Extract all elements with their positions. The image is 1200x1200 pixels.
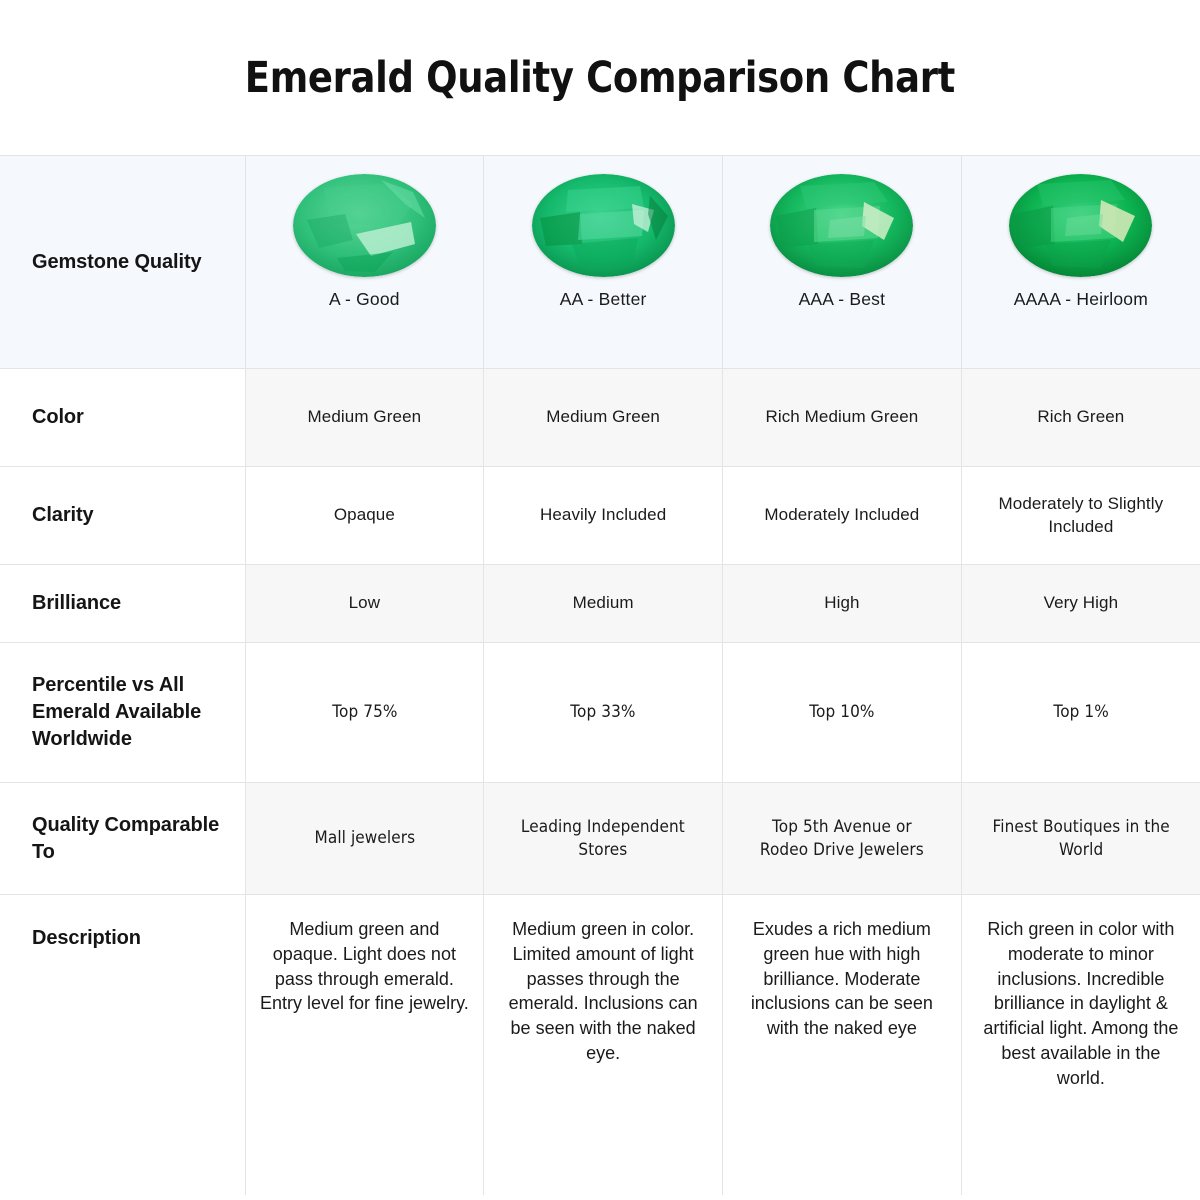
cell-text: Rich Green: [976, 406, 1186, 428]
cell-comparable-a: Mall jewelers: [245, 783, 484, 895]
cell-comparable-aaaa: Finest Boutiques in the World: [961, 783, 1200, 895]
cell-text: Medium green and opaque. Light does not …: [260, 917, 470, 1016]
cell-brilliance-aaaa: Very High: [961, 565, 1200, 643]
cell-text: Opaque: [260, 504, 470, 526]
gem-cell-aaa: AAA - Best: [723, 156, 962, 369]
cell-text: Top 33%: [509, 701, 698, 723]
cell-text: Medium: [498, 592, 708, 614]
cell-brilliance-aaa: High: [723, 565, 962, 643]
table-row-quality-comparable-to: Quality Comparable To Mall jewelers Lead…: [0, 783, 1200, 895]
cell-text: Moderately Included: [737, 504, 947, 526]
table-row-clarity: Clarity Opaque Heavily Included Moderate…: [0, 467, 1200, 565]
cell-brilliance-a: Low: [245, 565, 484, 643]
row-label-quality-comparable-to: Quality Comparable To: [0, 783, 245, 895]
cell-text: Rich Medium Green: [737, 406, 947, 428]
cell-color-aaa: Rich Medium Green: [723, 369, 962, 467]
cell-description-aaa: Exudes a rich medium green hue with high…: [723, 895, 962, 1195]
page-title: Emerald Quality Comparison Chart: [245, 53, 955, 103]
cell-clarity-a: Opaque: [245, 467, 484, 565]
cell-text: Moderately to Slightly Included: [976, 493, 1186, 537]
cell-text: Medium Green: [260, 406, 470, 428]
cell-text: High: [737, 592, 947, 614]
cell-clarity-aaa: Moderately Included: [723, 467, 962, 565]
gem-cell-aaaa: AAAA - Heirloom: [961, 156, 1200, 369]
cell-text: Very High: [976, 592, 1186, 614]
cell-text: Mall jewelers: [270, 827, 459, 849]
gem-label-aaa: AAA - Best: [799, 289, 886, 310]
cell-text: Top 10%: [747, 701, 936, 723]
table-row-description: Description Medium green and opaque. Lig…: [0, 895, 1200, 1195]
cell-clarity-aaaa: Moderately to Slightly Included: [961, 467, 1200, 565]
cell-color-aaaa: Rich Green: [961, 369, 1200, 467]
emerald-gem-aaa-icon: [770, 174, 913, 277]
cell-percentile-aaa: Top 10%: [723, 643, 962, 783]
row-label-percentile: Percentile vs All Emerald Available Worl…: [0, 643, 245, 783]
row-label-color: Color: [0, 369, 245, 467]
table-row-gemstone-quality: Gemstone Quality: [0, 156, 1200, 369]
cell-text: Finest Boutiques in the World: [986, 816, 1175, 860]
cell-text: Top 75%: [270, 701, 459, 723]
cell-text: Medium green in color. Limited amount of…: [498, 917, 708, 1066]
cell-description-aa: Medium green in color. Limited amount of…: [484, 895, 723, 1195]
cell-color-aa: Medium Green: [484, 369, 723, 467]
emerald-gem-aaaa-icon: [1009, 174, 1152, 277]
cell-percentile-aaaa: Top 1%: [961, 643, 1200, 783]
table-row-percentile: Percentile vs All Emerald Available Worl…: [0, 643, 1200, 783]
cell-color-a: Medium Green: [245, 369, 484, 467]
cell-text: Heavily Included: [498, 504, 708, 526]
row-label-gemstone-quality: Gemstone Quality: [0, 156, 245, 369]
gem-label-a: A - Good: [329, 289, 400, 310]
gem-label-aaaa: AAAA - Heirloom: [1014, 289, 1148, 310]
cell-text: Exudes a rich medium green hue with high…: [737, 917, 947, 1041]
cell-comparable-aa: Leading Independent Stores: [484, 783, 723, 895]
emerald-gem-a-icon: [293, 174, 436, 277]
cell-clarity-aa: Heavily Included: [484, 467, 723, 565]
cell-percentile-a: Top 75%: [245, 643, 484, 783]
gem-cell-a: A - Good: [245, 156, 484, 369]
comparison-chart-page: Emerald Quality Comparison Chart Gemston…: [0, 0, 1200, 1200]
cell-text: Leading Independent Stores: [509, 816, 698, 860]
gem-label-aa: AA - Better: [560, 289, 647, 310]
title-bar: Emerald Quality Comparison Chart: [0, 0, 1200, 155]
cell-text: Top 1%: [986, 701, 1175, 723]
cell-text: Low: [260, 592, 470, 614]
cell-description-aaaa: Rich green in color with moderate to min…: [961, 895, 1200, 1195]
cell-percentile-aa: Top 33%: [484, 643, 723, 783]
cell-comparable-aaa: Top 5th Avenue or Rodeo Drive Jewelers: [723, 783, 962, 895]
emerald-gem-aa-icon: [532, 174, 675, 277]
table-row-brilliance: Brilliance Low Medium High Very High: [0, 565, 1200, 643]
table-row-color: Color Medium Green Medium Green Rich Med…: [0, 369, 1200, 467]
cell-text: Medium Green: [498, 406, 708, 428]
row-label-clarity: Clarity: [0, 467, 245, 565]
cell-brilliance-aa: Medium: [484, 565, 723, 643]
cell-text: Rich green in color with moderate to min…: [976, 917, 1186, 1091]
row-label-brilliance: Brilliance: [0, 565, 245, 643]
row-label-description: Description: [0, 895, 245, 1195]
cell-text: Top 5th Avenue or Rodeo Drive Jewelers: [747, 816, 936, 860]
emerald-quality-table: Gemstone Quality: [0, 155, 1200, 1195]
gem-cell-aa: AA - Better: [484, 156, 723, 369]
cell-description-a: Medium green and opaque. Light does not …: [245, 895, 484, 1195]
